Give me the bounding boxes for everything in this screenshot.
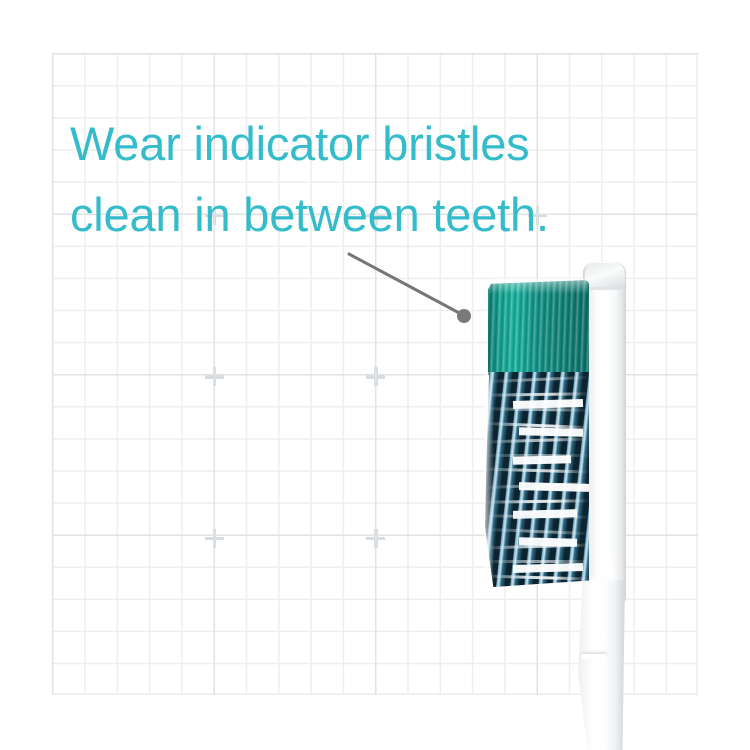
- wear-indicator-bristles: [488, 280, 589, 375]
- toothbrush-cap-seam: [588, 287, 622, 290]
- toothbrush-head: [455, 250, 655, 750]
- toothbrush-handle-back: [583, 262, 626, 602]
- bristle-highlight-streak: [485, 454, 589, 457]
- bristle-gap: [519, 427, 583, 437]
- bristle-highlight-streak: [485, 560, 589, 563]
- handle-grip-notch: [581, 654, 607, 659]
- toothbrush-neck: [573, 580, 625, 750]
- handle-highlight: [605, 550, 614, 590]
- product-feature-illustration: Wear indicator bristles clean in between…: [0, 0, 750, 750]
- page-title: Wear indicator bristles clean in between…: [70, 108, 670, 250]
- toothbrush-head-cap: [585, 263, 625, 289]
- wear-indicator-bristle-tips: [489, 278, 588, 294]
